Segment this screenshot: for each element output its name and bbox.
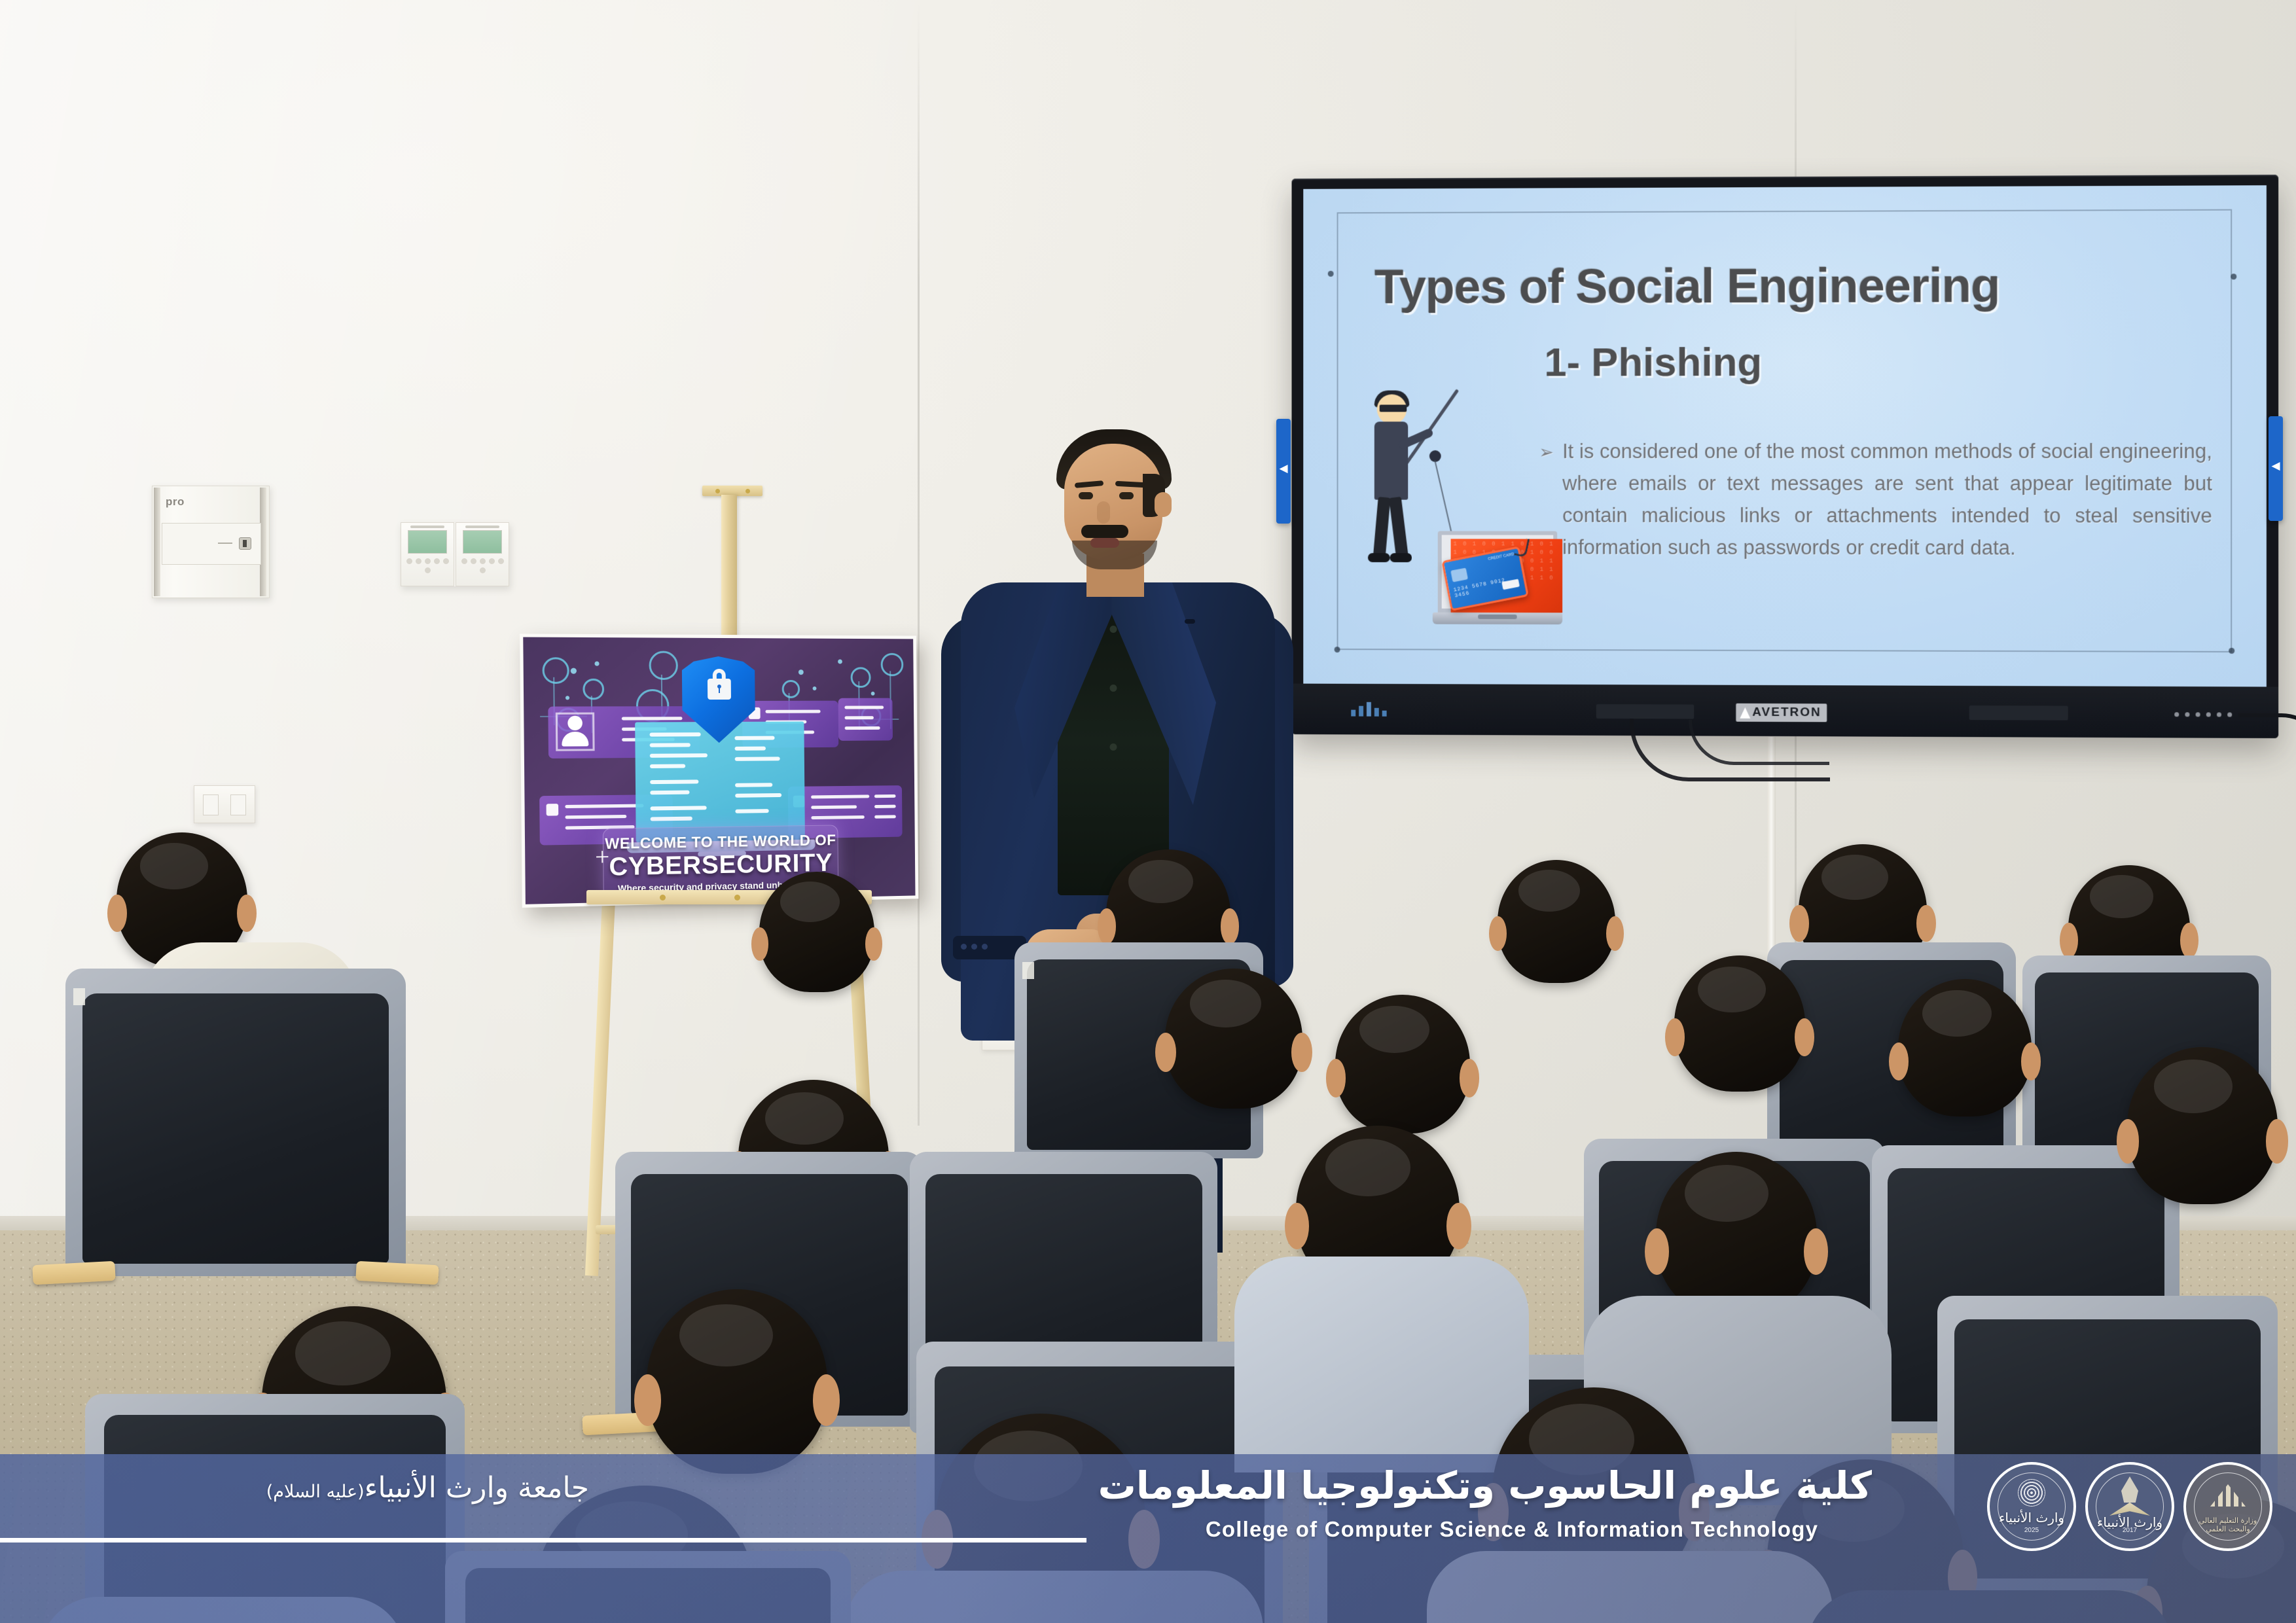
electrical-distribution-panel[interactable]: pro (152, 486, 270, 598)
thief-eye-mask-icon (1380, 404, 1407, 412)
audience-head (1656, 1152, 1817, 1318)
logo-university-warith-al-anbiyaa: وارث الأنبياء 2017 (2085, 1462, 2174, 1551)
display-side-button-panel-right[interactable]: ◀ (2269, 416, 2283, 521)
university-name-suffix: (عليه السلام) (266, 1482, 365, 1502)
slide-body-text: It is considered one of the most common … (1562, 440, 2212, 560)
thief-shoe (1368, 553, 1390, 562)
college-name-arabic: كلية علوم الحاسوب وتكنولوجيا المعلومات (1152, 1463, 1872, 1508)
audience-head (1498, 860, 1615, 983)
slide-corner-dot (1328, 271, 1334, 277)
panel-brand-label: pro (166, 495, 185, 508)
slide-corner-dot (2229, 648, 2234, 654)
display-speaker-grille (1969, 705, 2068, 721)
audience-head (1165, 969, 1302, 1109)
wall-mounted-display[interactable]: Types of Social Engineering 1- Phishing … (1292, 175, 2279, 738)
ac-thermostat-right[interactable] (456, 522, 509, 586)
university-name-arabic: جامعة وارث الأنبياء(عليه السلام) (266, 1471, 589, 1505)
audience-head (2127, 1047, 2278, 1204)
display-speaker-grille (1596, 704, 1694, 719)
logo-college-computer-science: وارث الأنبياء 2025 (1987, 1462, 2076, 1551)
college-name-english: College of Computer Science & Informatio… (1152, 1517, 1872, 1542)
logo-ministry-higher-education-iraq: وزارة التعليم العالي والبحث العلمي (2183, 1462, 2272, 1551)
audience-head (1898, 979, 2032, 1116)
switch-rocker-left[interactable] (203, 794, 219, 815)
presenter-ear (1155, 492, 1172, 517)
presenter-moustache (1081, 525, 1128, 538)
presenter-eye (1119, 492, 1134, 499)
audience-head (1335, 995, 1470, 1133)
presentation-slide: Types of Social Engineering 1- Phishing … (1303, 185, 2267, 687)
thermostat-lcd-display (408, 530, 447, 554)
display-cable-loop (1689, 720, 1829, 765)
emblem-radial-icon (2018, 1479, 2045, 1507)
slide-body-paragraph: ➢ It is considered one of the most commo… (1562, 436, 2212, 565)
presenter-eye (1079, 492, 1093, 499)
thermostat-header-strip (410, 526, 444, 528)
credit-card-label: CREDIT CARD (1488, 552, 1515, 562)
thermostat-lcd-display (463, 530, 502, 554)
thermostat-buttons[interactable] (406, 558, 449, 573)
display-power-cord-right (2238, 713, 2296, 763)
presenter-nose (1097, 501, 1110, 524)
presenter-mouth (1090, 538, 1119, 548)
display-screen: Types of Social Engineering 1- Phishing … (1303, 185, 2267, 687)
audience-shoulders (1234, 1257, 1529, 1472)
audience-head (1674, 955, 1805, 1092)
audience-head (759, 872, 874, 992)
slide-corner-dot (2231, 274, 2236, 279)
institution-banner: جامعة وارث الأنبياء(عليه السلام) كلية عل… (0, 1454, 2296, 1623)
fishing-line (1434, 460, 1453, 537)
panel-marking (218, 543, 232, 544)
brand-triangle-icon (1740, 707, 1750, 718)
display-port-row (1351, 702, 1386, 717)
switch-rocker-right[interactable] (230, 794, 246, 815)
display-status-leds (2174, 712, 2232, 717)
display-brand-text: AVETRON (1752, 705, 1821, 720)
ac-thermostat-left[interactable] (401, 522, 454, 586)
logo-row: وارث الأنبياء 2025 وارث الأنبياء 2017 وز… (1987, 1462, 2272, 1551)
poster-info-card (838, 698, 893, 741)
logo-year: 2025 (1990, 1527, 2073, 1534)
lapel-buttonhole (1185, 619, 1195, 624)
light-switch-double[interactable] (194, 785, 255, 823)
slide-title: Types of Social Engineering (1374, 257, 2000, 314)
laptop-trackpad (1478, 615, 1516, 619)
thief-torso (1374, 421, 1408, 499)
banner-divider-rule (0, 1538, 1086, 1543)
ac-thermostat-group[interactable] (401, 522, 509, 586)
thermostat-header-strip (465, 526, 499, 528)
logo-year: 2017 (2088, 1527, 2172, 1534)
slide-corner-dot (1335, 647, 1340, 652)
audience-head (647, 1289, 827, 1474)
card-chip-icon (1450, 568, 1468, 582)
lecture-seat[interactable] (65, 969, 406, 1276)
chevron-left-icon: ◀ (2269, 459, 2283, 473)
thermostat-buttons[interactable] (461, 558, 504, 573)
panel-edge-left (154, 488, 160, 596)
lecture-hall-photo: pro (0, 0, 2296, 1623)
thief-leg (1373, 497, 1391, 558)
padlock-icon (708, 679, 731, 700)
user-profile-icon (559, 716, 592, 748)
thief-leg (1389, 497, 1408, 558)
phishing-thief-laptop-illustration: CREDIT CARD 1234 5678 9012 3456 (1363, 382, 1577, 663)
thief-shoe (1390, 553, 1412, 562)
panel-latch[interactable] (239, 537, 251, 550)
slide-subtitle: 1- Phishing (1544, 339, 1762, 385)
